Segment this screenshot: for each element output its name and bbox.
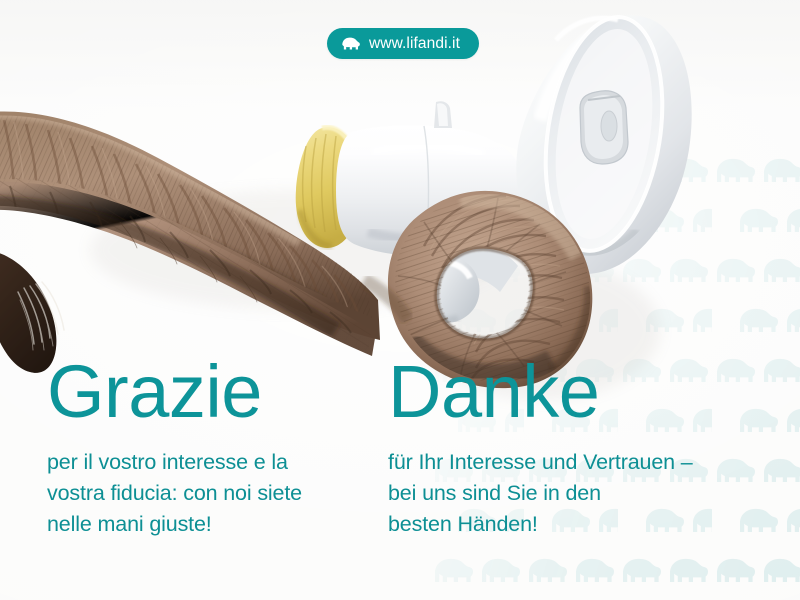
body-text-german: für Ihr Interesse und Vertrauen – bei un… bbox=[388, 447, 788, 540]
body-line: bei uns sind Sie in den bbox=[388, 478, 788, 509]
body-line: vostra fiducia: con noi siete bbox=[47, 478, 377, 509]
megaphone-handle bbox=[400, 247, 518, 354]
headline-italian: Grazie bbox=[47, 357, 377, 427]
megaphone-body bbox=[336, 101, 522, 256]
elephant-trunk bbox=[0, 100, 400, 360]
message-column-italian: Grazie per il vostro interesse e la vost… bbox=[47, 357, 377, 540]
body-line: besten Händen! bbox=[388, 509, 788, 540]
elephant-icon bbox=[341, 36, 360, 51]
megaphone-bracket bbox=[580, 91, 628, 164]
message-column-german: Danke für Ihr Interesse und Vertrauen – … bbox=[388, 357, 788, 540]
body-text-italian: per il vostro interesse e la vostra fidu… bbox=[47, 447, 377, 540]
body-line: per il vostro interesse e la bbox=[47, 447, 377, 478]
website-url-badge[interactable]: www.lifandi.it bbox=[327, 28, 479, 59]
poster-canvas: www.lifandi.it Grazie per il vostro inte… bbox=[0, 0, 800, 600]
body-line: nelle mani giuste! bbox=[47, 509, 377, 540]
body-line: für Ihr Interesse und Vertrauen – bbox=[388, 447, 788, 478]
megaphone-yellow-ring bbox=[296, 127, 366, 248]
website-url-text: www.lifandi.it bbox=[369, 36, 460, 52]
elephant-trunk-underside bbox=[0, 170, 400, 370]
megaphone-cone bbox=[516, 9, 691, 274]
headline-german: Danke bbox=[388, 357, 788, 427]
